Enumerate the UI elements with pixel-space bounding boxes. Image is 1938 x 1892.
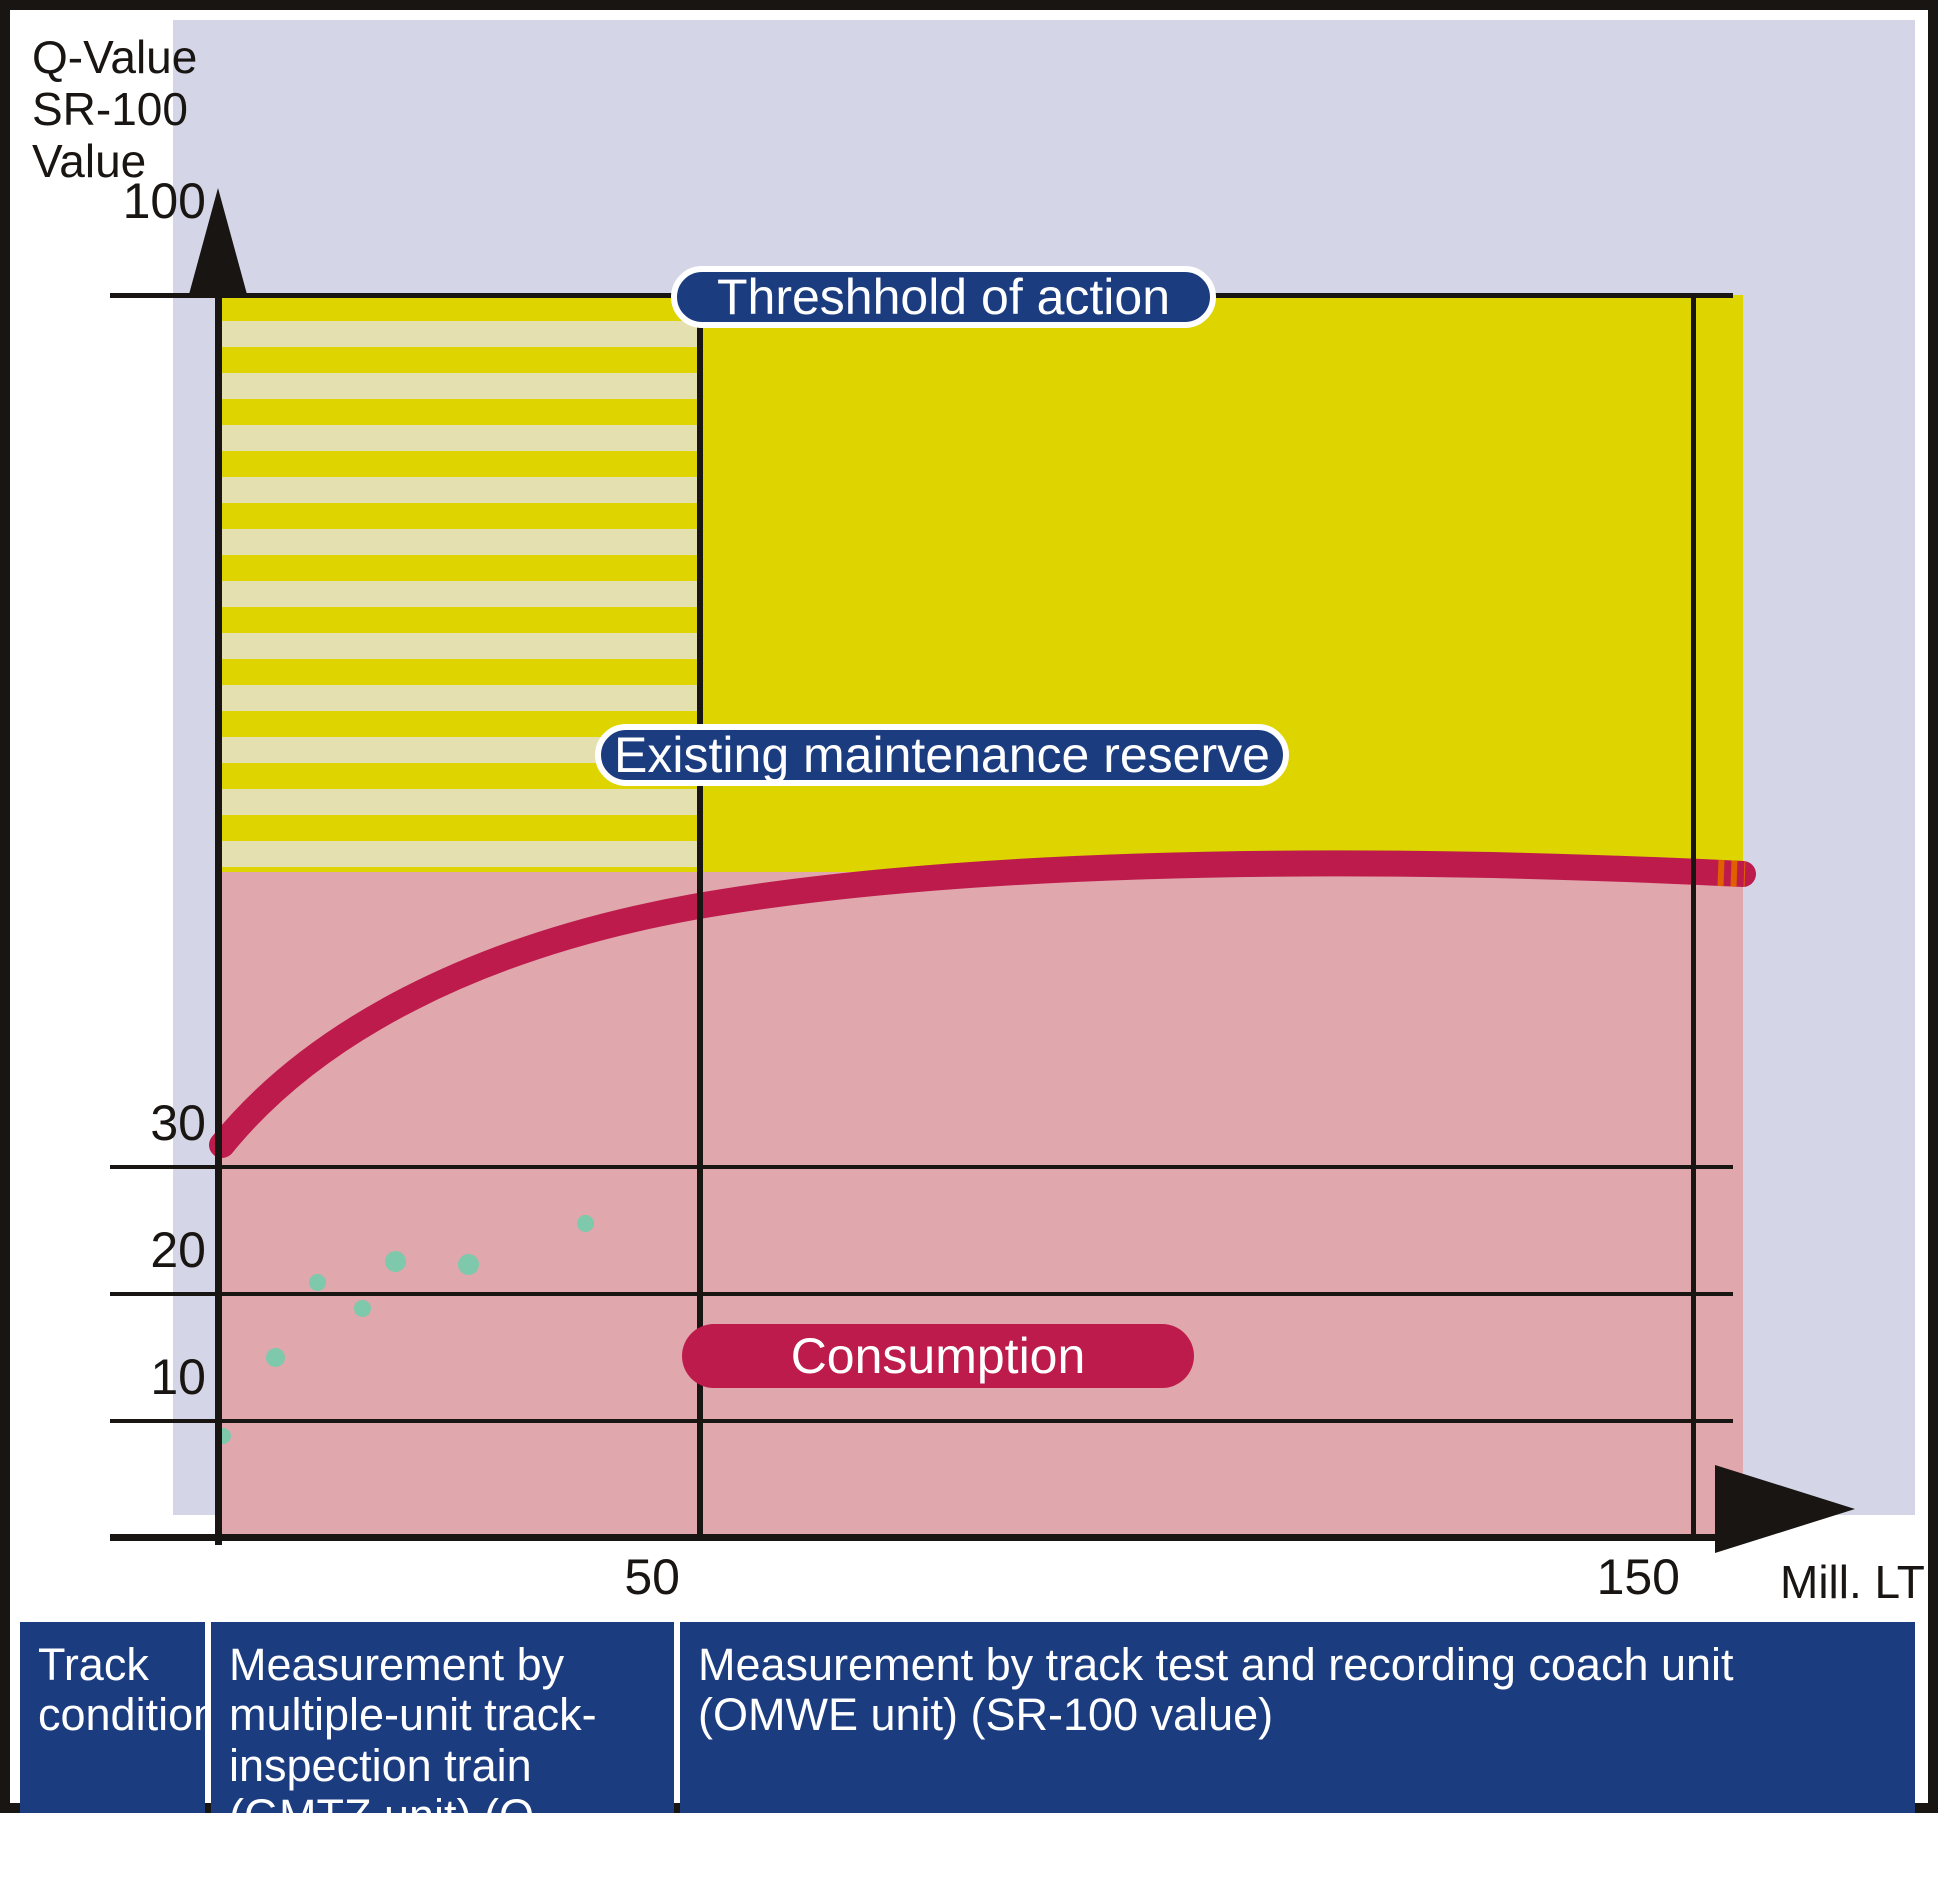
measured-point [309,1274,326,1291]
chart-figure: Q-Value SR-100 Value 100 30 20 10 50 150… [0,0,1938,1813]
measured-point [354,1300,371,1317]
gridline-30 [110,1165,1733,1169]
footer-segment-gmtz: Measurement by multiple-unit track-inspe… [211,1622,674,1813]
y-axis-title: Q-Value SR-100 Value [32,32,197,188]
y-tick-label-30: 30 [10,1098,206,1148]
x-axis-title: Mill. LT [1780,1555,1925,1609]
maintenance-reserve-label-badge: Existing maintenance reserve [595,724,1289,786]
y-tick-label-10: 10 [10,1352,206,1402]
threshold-label-badge: Threshhold of action [671,266,1216,328]
x-tick-label-50: 50 [490,1552,680,1602]
gridline-20 [110,1292,1733,1296]
y-tick-label-20: 20 [10,1225,206,1275]
footer-row-label: Track condition [20,1622,205,1813]
divider-150 [1691,295,1696,1540]
measured-point [577,1215,594,1232]
measured-point [266,1348,285,1367]
x-axis-line [110,1534,1743,1541]
footer-segment-omwe: Measurement by track test and recording … [680,1622,1915,1813]
consumption-fill [222,861,1743,1540]
measured-point [458,1254,479,1275]
measured-point [385,1251,406,1272]
gridline-10 [110,1419,1733,1423]
y-tick-label-100: 100 [10,176,206,226]
track-condition-footer: Track condition Measurement by multiple-… [20,1622,1938,1813]
y-axis-line [215,260,222,1545]
x-axis-arrow-icon [1715,1465,1855,1553]
x-tick-label-150: 150 [1490,1552,1680,1602]
consumption-label-badge: Consumption [682,1324,1194,1388]
